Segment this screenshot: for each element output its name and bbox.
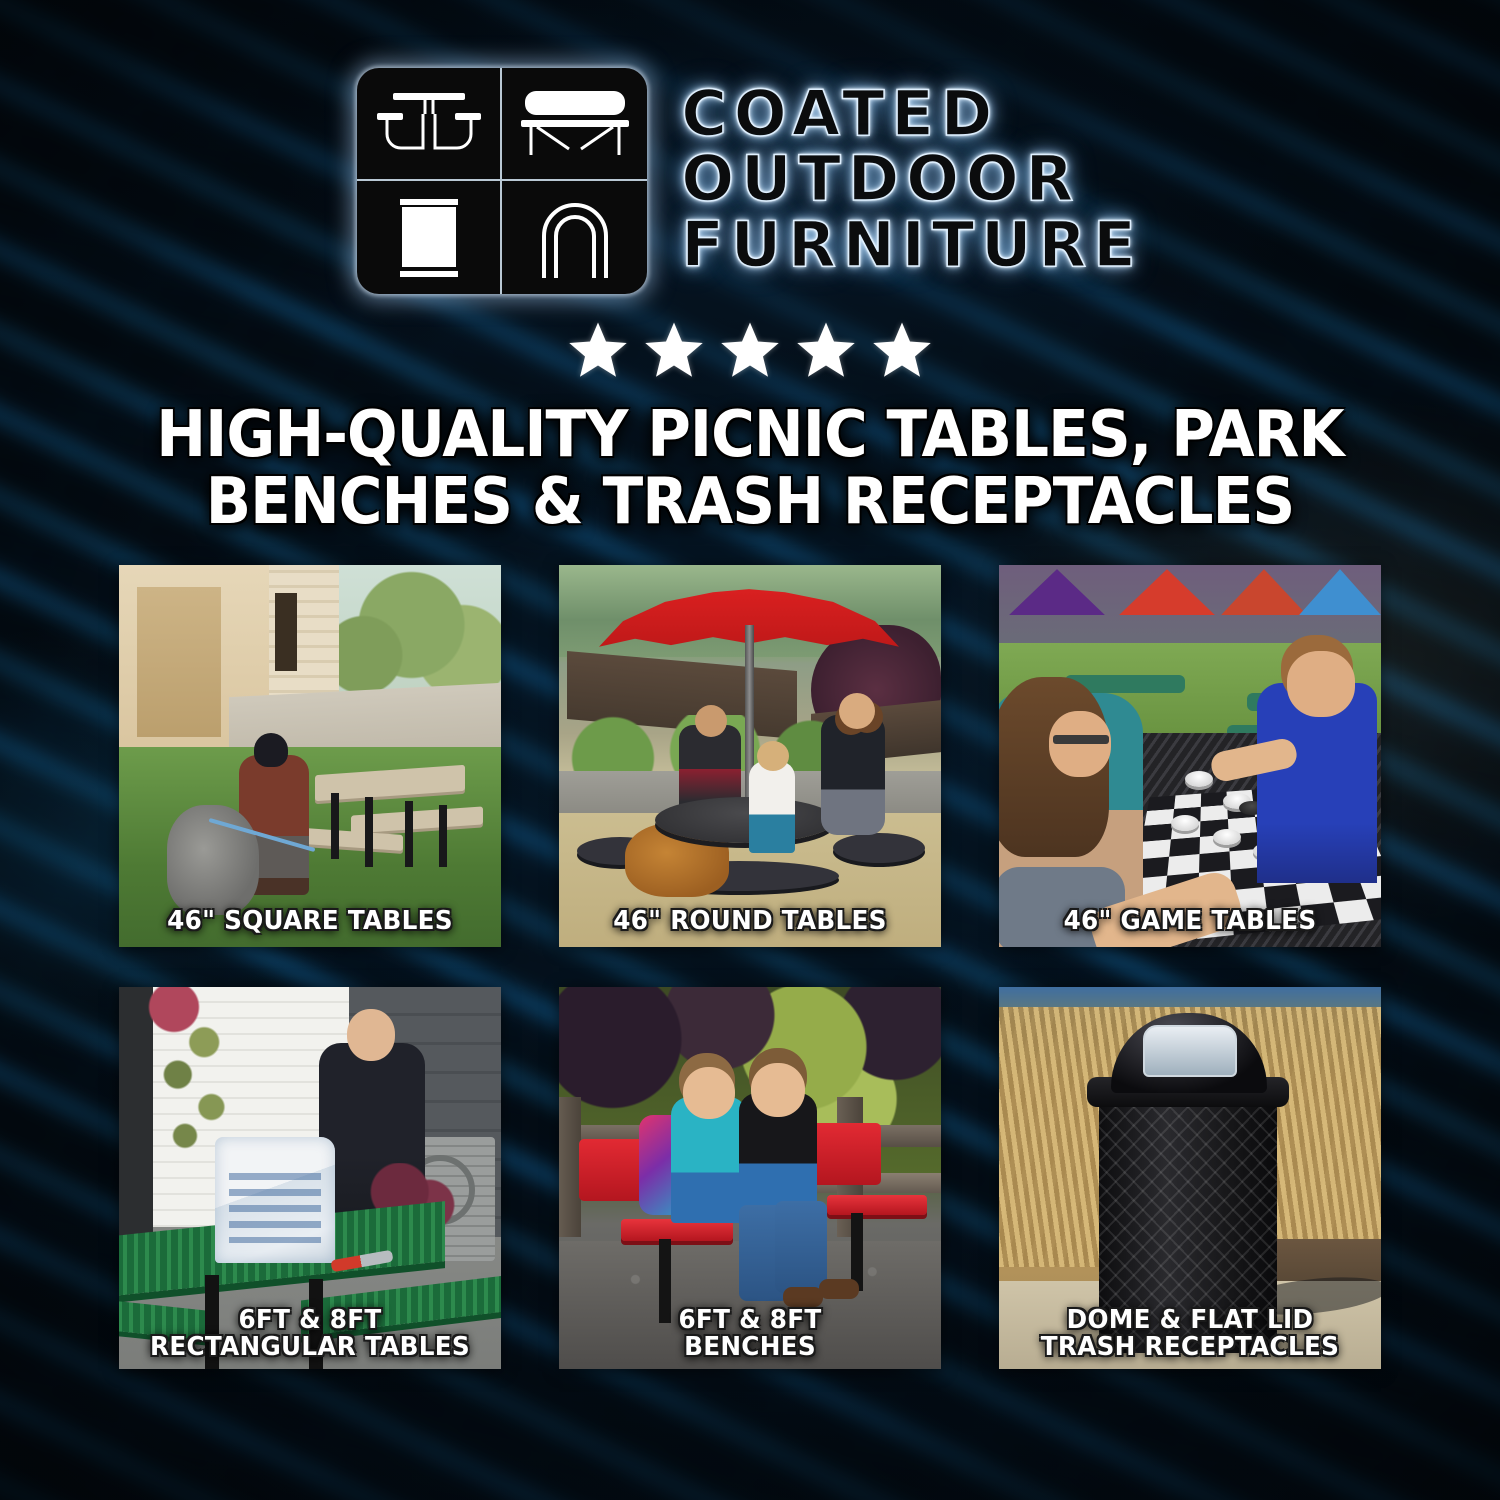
- star-icon: [795, 320, 857, 380]
- caption-line-1: 46" GAME TABLES: [1064, 906, 1317, 936]
- park-bench-icon: [502, 68, 647, 181]
- product-tile-round-tables[interactable]: 46" ROUND TABLES: [559, 565, 941, 947]
- picnic-table-icon: [357, 68, 502, 181]
- caption-line-2: BENCHES: [569, 1334, 932, 1361]
- product-tile-game-tables[interactable]: 46" GAME TABLES: [999, 565, 1381, 947]
- headline-line-2: BENCHES & TRASH RECEPTACLES: [127, 469, 1373, 536]
- product-photo-round-tables: [559, 565, 941, 947]
- logo-mark: [357, 68, 647, 294]
- product-caption: 46" SQUARE TABLES: [129, 908, 492, 935]
- caption-line-1: DOME & FLAT LID: [1067, 1305, 1314, 1335]
- star-icon: [719, 320, 781, 380]
- bike-rack-icon: [502, 181, 647, 294]
- product-caption: 46" ROUND TABLES: [569, 908, 932, 935]
- product-tile-square-tables[interactable]: 46" SQUARE TABLES: [119, 565, 501, 947]
- product-photo-game-tables: [999, 565, 1381, 947]
- brand-wordmark: COATED OUTDOOR FURNITURE: [681, 82, 1142, 280]
- headline-line-1: HIGH-QUALITY PICNIC TABLES, PARK: [156, 398, 1343, 472]
- caption-line-1: 6FT & 8FT: [238, 1305, 381, 1335]
- brand-logo: COATED OUTDOOR FURNITURE: [0, 0, 1500, 294]
- brand-name-line3: FURNITURE: [681, 213, 1142, 276]
- caption-line-1: 46" SQUARE TABLES: [167, 906, 453, 936]
- product-caption: 6FT & 8FT RECTANGULAR TABLES: [129, 1307, 492, 1362]
- star-icon: [871, 320, 933, 380]
- star-icon: [643, 320, 705, 380]
- product-caption: DOME & FLAT LID TRASH RECEPTACLES: [1009, 1307, 1372, 1362]
- brand-name-line2: OUTDOOR: [681, 147, 1142, 210]
- product-tile-rectangular-tables[interactable]: 6FT & 8FT RECTANGULAR TABLES: [119, 987, 501, 1369]
- product-tile-trash-receptacles[interactable]: DOME & FLAT LID TRASH RECEPTACLES: [999, 987, 1381, 1369]
- promo-banner: COATED OUTDOOR FURNITURE HIGH-QUALITY PI…: [0, 0, 1500, 1500]
- star-icon: [567, 320, 629, 380]
- product-grid: 46" SQUARE TABLES: [118, 565, 1383, 1369]
- caption-line-1: 6FT & 8FT: [678, 1305, 821, 1335]
- trash-receptacle-icon: [357, 181, 502, 294]
- caption-line-1: 46" ROUND TABLES: [613, 906, 887, 936]
- caption-line-2: RECTANGULAR TABLES: [129, 1334, 492, 1361]
- product-caption: 46" GAME TABLES: [1009, 908, 1372, 935]
- product-tile-benches[interactable]: 6FT & 8FT BENCHES: [559, 987, 941, 1369]
- star-rating: [0, 320, 1500, 380]
- caption-line-2: TRASH RECEPTACLES: [1009, 1334, 1372, 1361]
- product-caption: 6FT & 8FT BENCHES: [569, 1307, 932, 1362]
- page-title: HIGH-QUALITY PICNIC TABLES, PARK BENCHES…: [127, 402, 1373, 535]
- product-photo-square-tables: [119, 565, 501, 947]
- brand-name-line1: COATED: [681, 82, 1142, 145]
